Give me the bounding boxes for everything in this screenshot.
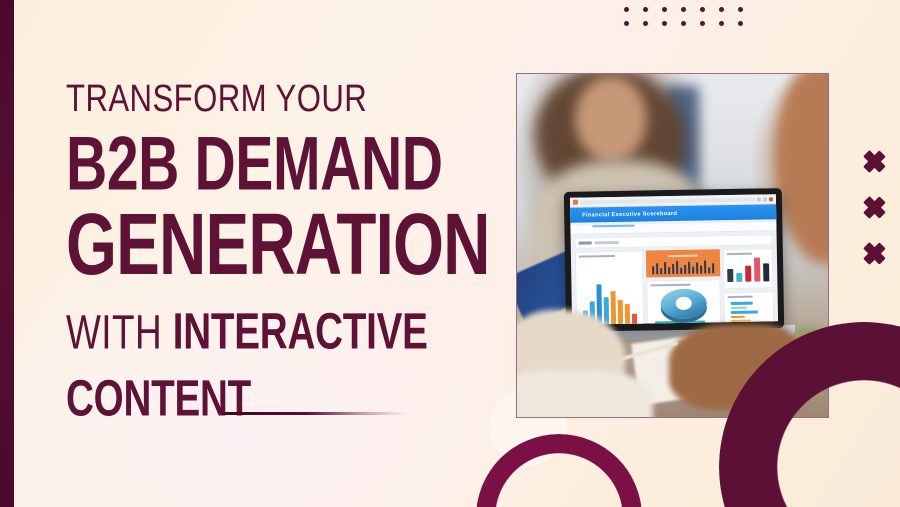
headline-block: TRANSFORM YOUR B2B DEMAND GENERATION WIT… [66, 80, 486, 423]
panel-title [668, 255, 697, 258]
left-accent-bar [0, 0, 14, 507]
x-marks-decoration [863, 150, 885, 264]
headline-line-4-row: CONTENT [66, 377, 486, 423]
photo-forearm [516, 370, 653, 418]
mini-bar-chart [651, 260, 715, 274]
panel-title [651, 284, 691, 287]
dot-grid-decoration [624, 7, 757, 35]
headline-line-4: CONTENT [66, 373, 251, 424]
dashboard-column-center [646, 249, 721, 325]
revenue-donut-chart-panel [647, 279, 722, 325]
cross-icon [863, 242, 885, 264]
headline-line-1: B2B DEMAND [66, 128, 419, 201]
headline-line-2: GENERATION [66, 203, 419, 287]
browser-tab-icon [573, 200, 578, 205]
window-close-icon [769, 197, 773, 201]
underline-rule [222, 412, 407, 415]
dashboard-title: Financial Executive Scoreboard [582, 210, 677, 218]
cross-icon [863, 150, 885, 172]
product-bar [727, 269, 733, 282]
stacked-bar-panel [651, 318, 717, 325]
bar [611, 291, 617, 324]
product-bar [736, 273, 742, 282]
promo-banner: TRANSFORM YOUR B2B DEMAND GENERATION WIT… [0, 0, 900, 507]
target-progress-panel [724, 291, 775, 325]
headline-kicker: TRANSFORM YOUR [66, 80, 410, 118]
cross-icon [863, 196, 885, 218]
product-bar [763, 263, 769, 281]
highlight-orange-panel [646, 249, 720, 277]
browser-url-bar [580, 197, 755, 204]
headline-line-3-thin: WITH [66, 306, 173, 360]
photo-person-face [575, 76, 647, 162]
donut-ring [661, 288, 708, 319]
window-minimize-icon [757, 197, 761, 201]
dashboard-body [571, 245, 778, 325]
photo-second-person [775, 73, 829, 264]
dashboard-header: Financial Executive Scoreboard [570, 204, 776, 223]
product-bar [745, 266, 751, 282]
bar [604, 297, 609, 324]
panel-title [579, 255, 615, 258]
bar [625, 304, 630, 324]
bar [618, 300, 623, 324]
filter-label [579, 242, 592, 245]
laptop: Financial Executive Scoreboard [564, 188, 784, 332]
headline-line-3-bold: INTERACTIVE [173, 302, 428, 359]
product-mix-panel [723, 248, 774, 289]
window-maximize-icon [763, 197, 767, 201]
filter-value [595, 241, 619, 244]
product-bar [754, 257, 760, 281]
product-figures [727, 257, 769, 285]
panel-title [727, 253, 752, 255]
panel-title [728, 296, 753, 298]
headline-line-3: WITH INTERACTIVE [66, 306, 419, 358]
dashboard-ribbon [570, 222, 776, 235]
bar [632, 314, 637, 324]
laptop-screen: Financial Executive Scoreboard [570, 194, 778, 325]
donut-chart [651, 288, 717, 319]
dashboard-column-right [723, 248, 774, 325]
horizontal-bar-chart [728, 300, 770, 324]
